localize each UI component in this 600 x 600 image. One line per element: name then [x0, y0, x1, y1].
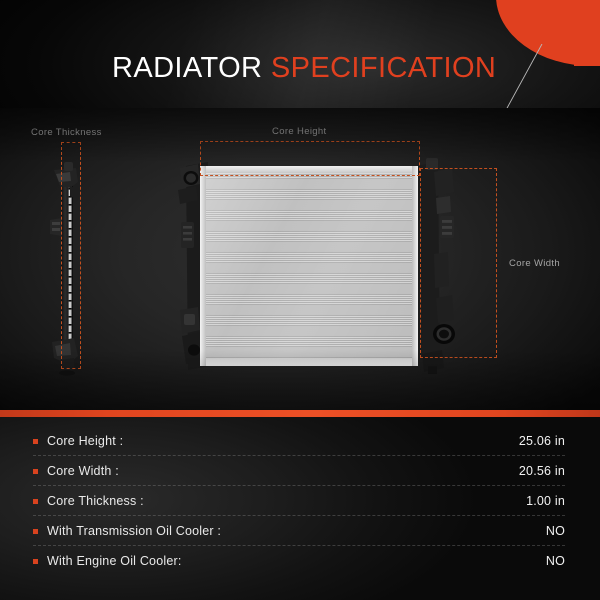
bullet-square-icon: [33, 499, 38, 504]
product-diagram-area: Core Thickness Core Height Core Width: [0, 108, 600, 410]
table-row: Core Height : 25.06 in: [33, 426, 565, 456]
bullet-square-icon: [33, 439, 38, 444]
table-row: Core Width : 20.56 in: [33, 456, 565, 486]
core-height-label: Core Height: [272, 126, 327, 137]
page-title: RADIATOR SPECIFICATION: [112, 52, 496, 85]
core-thickness-callout-box: [61, 142, 81, 369]
radiator-core: [200, 166, 418, 366]
spec-label: With Transmission Oil Cooler :: [47, 524, 221, 538]
spec-value: NO: [546, 554, 565, 568]
header-banner: RADIATOR SPECIFICATION: [0, 0, 600, 118]
core-right-rail: [412, 166, 418, 366]
bullet-square-icon: [33, 559, 38, 564]
bullet-square-icon: [33, 529, 38, 534]
spec-label: Core Height :: [47, 434, 123, 448]
core-fin-field: [206, 173, 412, 359]
section-divider-bar: [0, 410, 600, 417]
specification-table: Core Height : 25.06 in Core Width : 20.5…: [0, 417, 600, 600]
spec-label: Core Width :: [47, 464, 119, 478]
spec-value: 1.00 in: [526, 494, 565, 508]
triangle-outline-accent: [480, 44, 600, 118]
title-part-radiator: RADIATOR: [112, 52, 262, 84]
spec-label: Core Thickness :: [47, 494, 144, 508]
core-thickness-label: Core Thickness: [31, 127, 102, 138]
core-height-callout-box: [200, 141, 420, 176]
core-width-label: Core Width: [509, 258, 560, 269]
table-row: With Engine Oil Cooler: NO: [33, 546, 565, 576]
spec-value: 25.06 in: [519, 434, 565, 448]
spec-label: With Engine Oil Cooler:: [47, 554, 182, 568]
spec-value: NO: [546, 524, 565, 538]
core-bottom-header: [200, 359, 418, 366]
table-row: With Transmission Oil Cooler : NO: [33, 516, 565, 546]
radiator-front-view: [178, 166, 446, 366]
spec-value: 20.56 in: [519, 464, 565, 478]
core-width-callout-box: [420, 168, 497, 358]
table-row: Core Thickness : 1.00 in: [33, 486, 565, 516]
bullet-square-icon: [33, 469, 38, 474]
title-part-specification: SPECIFICATION: [271, 52, 496, 84]
